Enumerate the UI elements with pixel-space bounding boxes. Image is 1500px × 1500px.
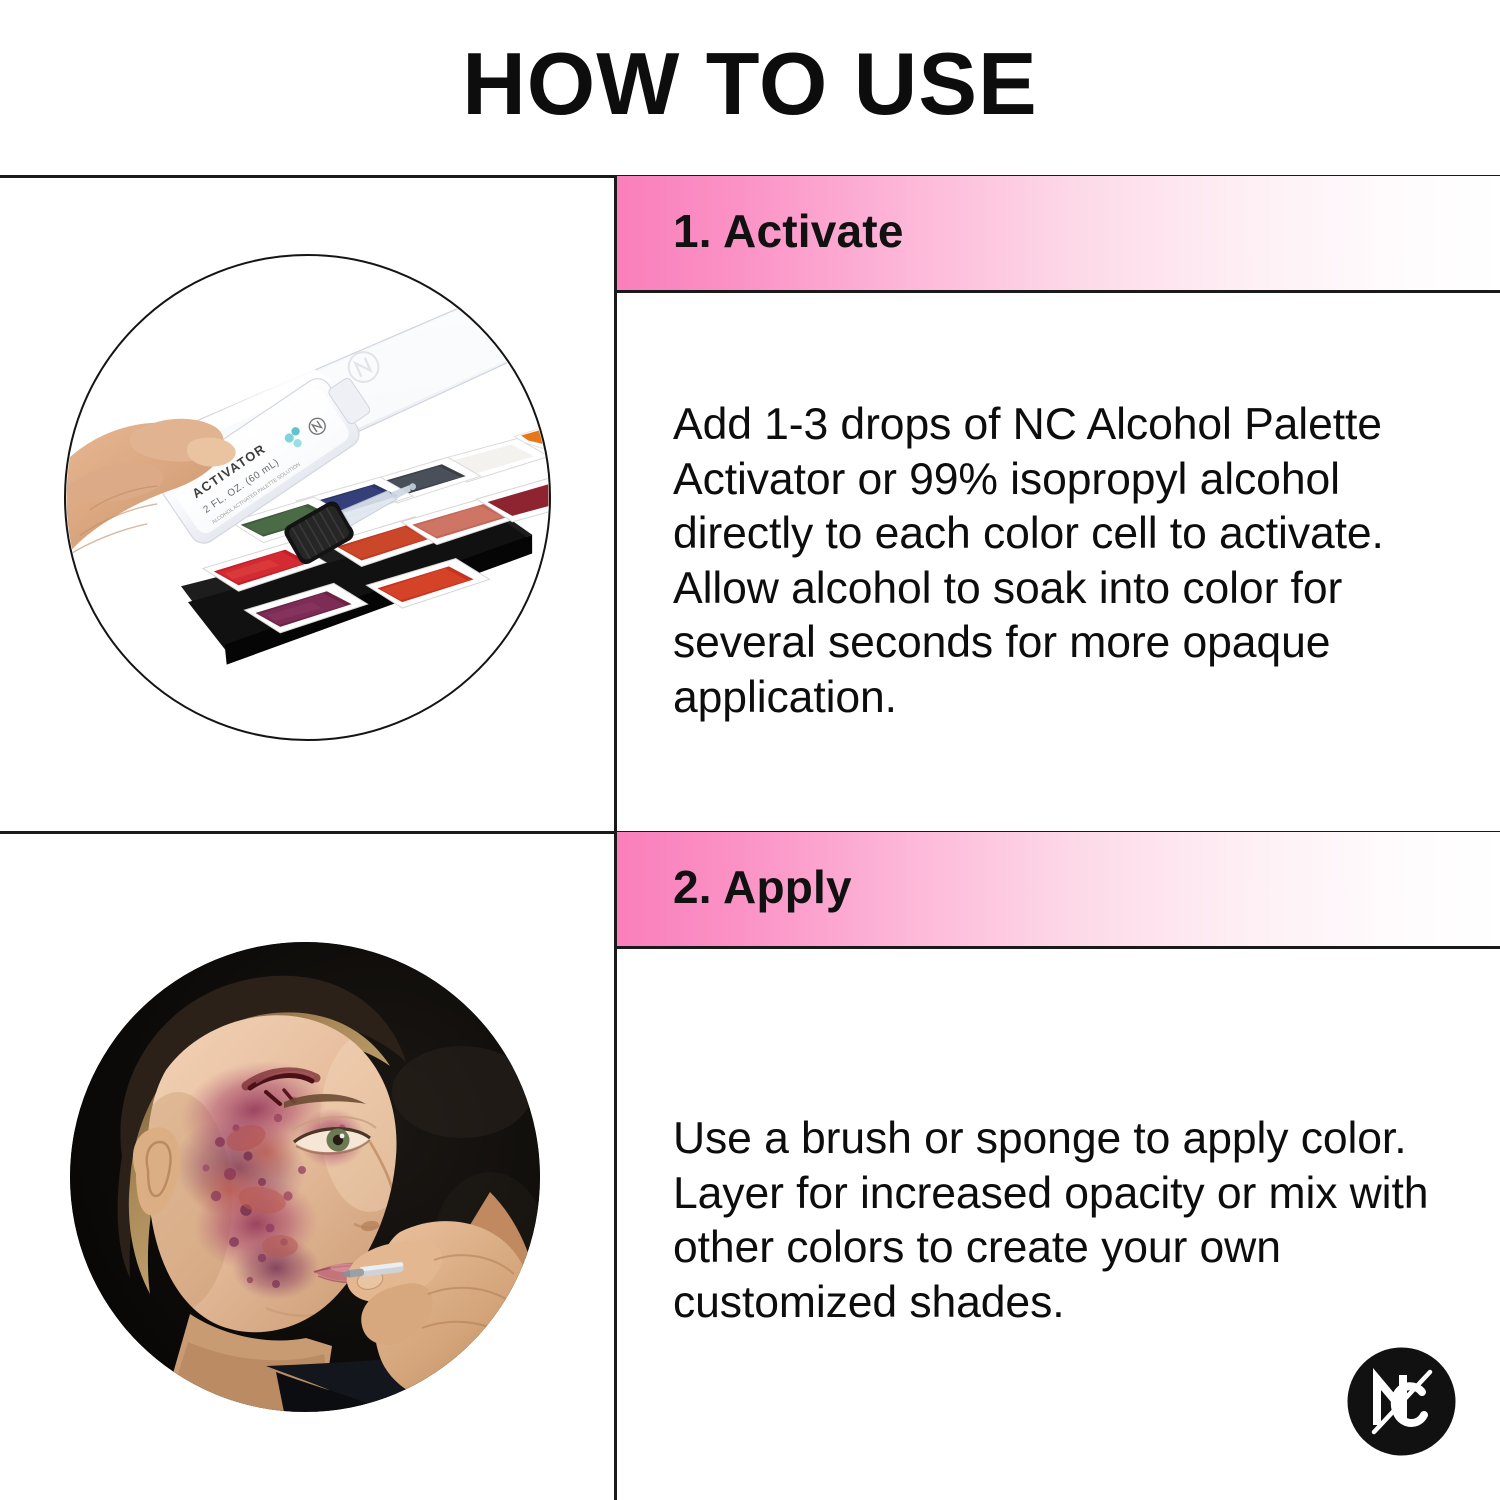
step-2-media (0, 832, 614, 1500)
step-2-header-bar: 2. Apply (617, 832, 1500, 949)
page-title: HOW TO USE (462, 40, 1038, 128)
step-1-label: 1. Activate (617, 208, 904, 254)
step-row-apply: 2. Apply Use a brush or sponge to apply … (0, 832, 1500, 1500)
step-1-body: Add 1-3 drops of NC Alcohol Palette Acti… (617, 398, 1463, 725)
step-2-text: Use a brush or sponge to apply color. La… (673, 1112, 1463, 1330)
nc-logo (1344, 1344, 1459, 1459)
step-2-label: 2. Apply (617, 864, 852, 910)
nc-logo-icon (1344, 1344, 1459, 1459)
palette-activator-photo: ACTIVATOR 2 FL. OZ. (60 mL) ALCOHOL ACTI… (64, 254, 551, 741)
palette-activator-illustration: ACTIVATOR 2 FL. OZ. (60 mL) ALCOHOL ACTI… (66, 256, 549, 739)
model-makeup-photo (70, 942, 540, 1412)
model-makeup-illustration (70, 942, 540, 1412)
step-1-text: Add 1-3 drops of NC Alcohol Palette Acti… (673, 398, 1463, 725)
step-1-media: ACTIVATOR 2 FL. OZ. (60 mL) ALCOHOL ACTI… (0, 176, 614, 832)
step-2-body: Use a brush or sponge to apply color. La… (617, 1112, 1463, 1330)
step-1-header-bar: 1. Activate (617, 176, 1500, 293)
page-header: HOW TO USE (0, 0, 1500, 176)
step-row-activate: ACTIVATOR 2 FL. OZ. (60 mL) ALCOHOL ACTI… (0, 176, 1500, 832)
step-1-content: 1. Activate Add 1-3 drops of NC Alcohol … (617, 176, 1500, 832)
